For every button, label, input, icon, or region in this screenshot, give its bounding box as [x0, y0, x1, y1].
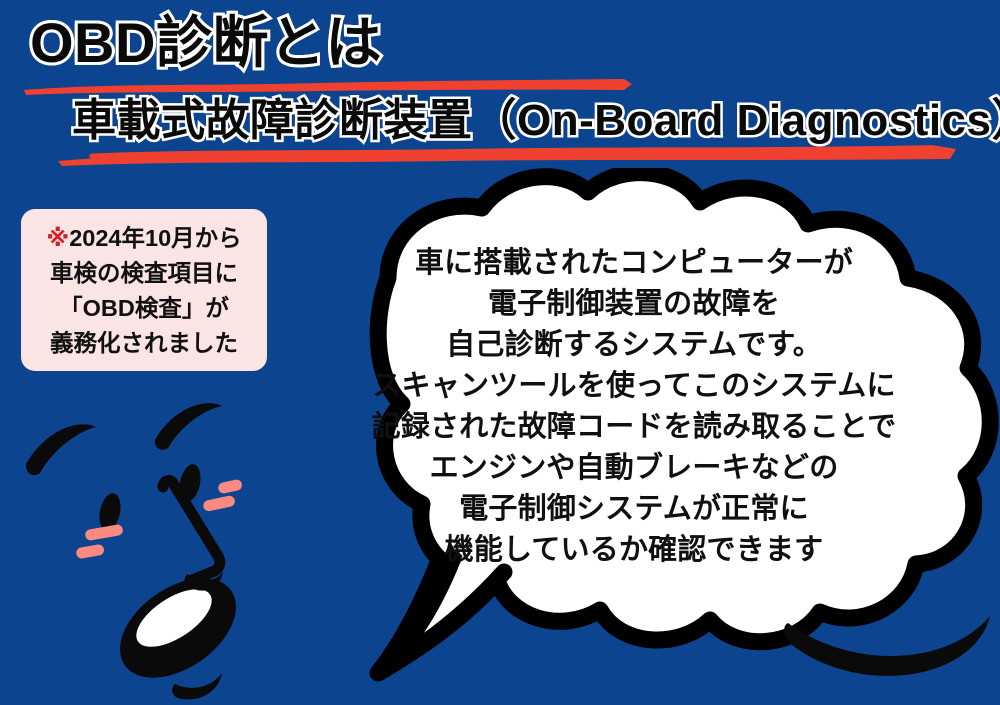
chin-line-icon: [172, 673, 222, 700]
bubble-line: 自己診断するシステムです。: [308, 325, 960, 366]
note-line: 義務化されました: [50, 326, 238, 361]
left-eyebrow-icon: [26, 424, 96, 475]
mouth-icon: [102, 558, 254, 698]
note-line-text: 「OBD検査」が: [59, 295, 229, 321]
heading-group: OBD診断とは 車載式故障診断装置（On-Board Diagnostics）: [0, 0, 1000, 175]
note-line: ※2024年10月から: [46, 221, 241, 256]
bubble-line: エンジンや自動ブレーキなどの: [308, 448, 960, 489]
bubble-line: 機能しているか確認できます: [308, 530, 960, 571]
right-blush-icon-2: [217, 479, 243, 495]
title-underline-marker: [20, 76, 640, 98]
poster-canvas: OBD診断とは 車載式故障診断装置（On-Board Diagnostics） …: [0, 0, 1000, 705]
right-eyebrow-icon: [155, 403, 222, 450]
speech-bubble: 車に搭載されたコンピューターが 電子制御装置の故障を 自己診断するシステムです。…: [268, 168, 1000, 688]
nose-icon: [163, 480, 220, 581]
mouth-highlight-icon: [127, 578, 221, 658]
bubble-text-block: 車に搭載されたコンピューターが 電子制御装置の故障を 自己診断するシステムです。…: [308, 243, 960, 571]
bubble-line: スキャンツールを使ってこのシステムに: [308, 366, 960, 407]
bubble-line: 電子制御装置の故障を: [308, 284, 960, 325]
page-title: OBD診断とは: [30, 12, 382, 74]
right-eye-icon: [176, 462, 203, 503]
cheek-line-icon: [185, 572, 223, 591]
note-line: 車検の検査項目に: [50, 256, 238, 291]
left-blush-icon: [84, 524, 123, 541]
note-line-text: 2024年10月から: [69, 225, 241, 251]
bubble-line: 記録された故障コードを読み取ることで: [308, 407, 960, 448]
bubble-line: 車に搭載されたコンピューターが: [308, 243, 960, 284]
note-line: 「OBD検査」が: [59, 291, 229, 326]
bubble-line: 電子制御システムが正常に: [308, 489, 960, 530]
asterisk-icon: ※: [46, 225, 69, 251]
note-line-text: 車検の検査項目に: [50, 260, 238, 286]
left-eye-icon: [96, 491, 123, 532]
page-subtitle: 車載式故障診断装置（On-Board Diagnostics）: [72, 96, 1000, 146]
note-line-text: 義務化されました: [50, 330, 238, 356]
left-blush-icon-2: [75, 544, 104, 560]
subtitle-underline-marker: [52, 143, 962, 167]
note-box: ※2024年10月から 車検の検査項目に 「OBD検査」が 義務化されました: [21, 209, 267, 371]
right-blush-icon: [202, 495, 236, 512]
